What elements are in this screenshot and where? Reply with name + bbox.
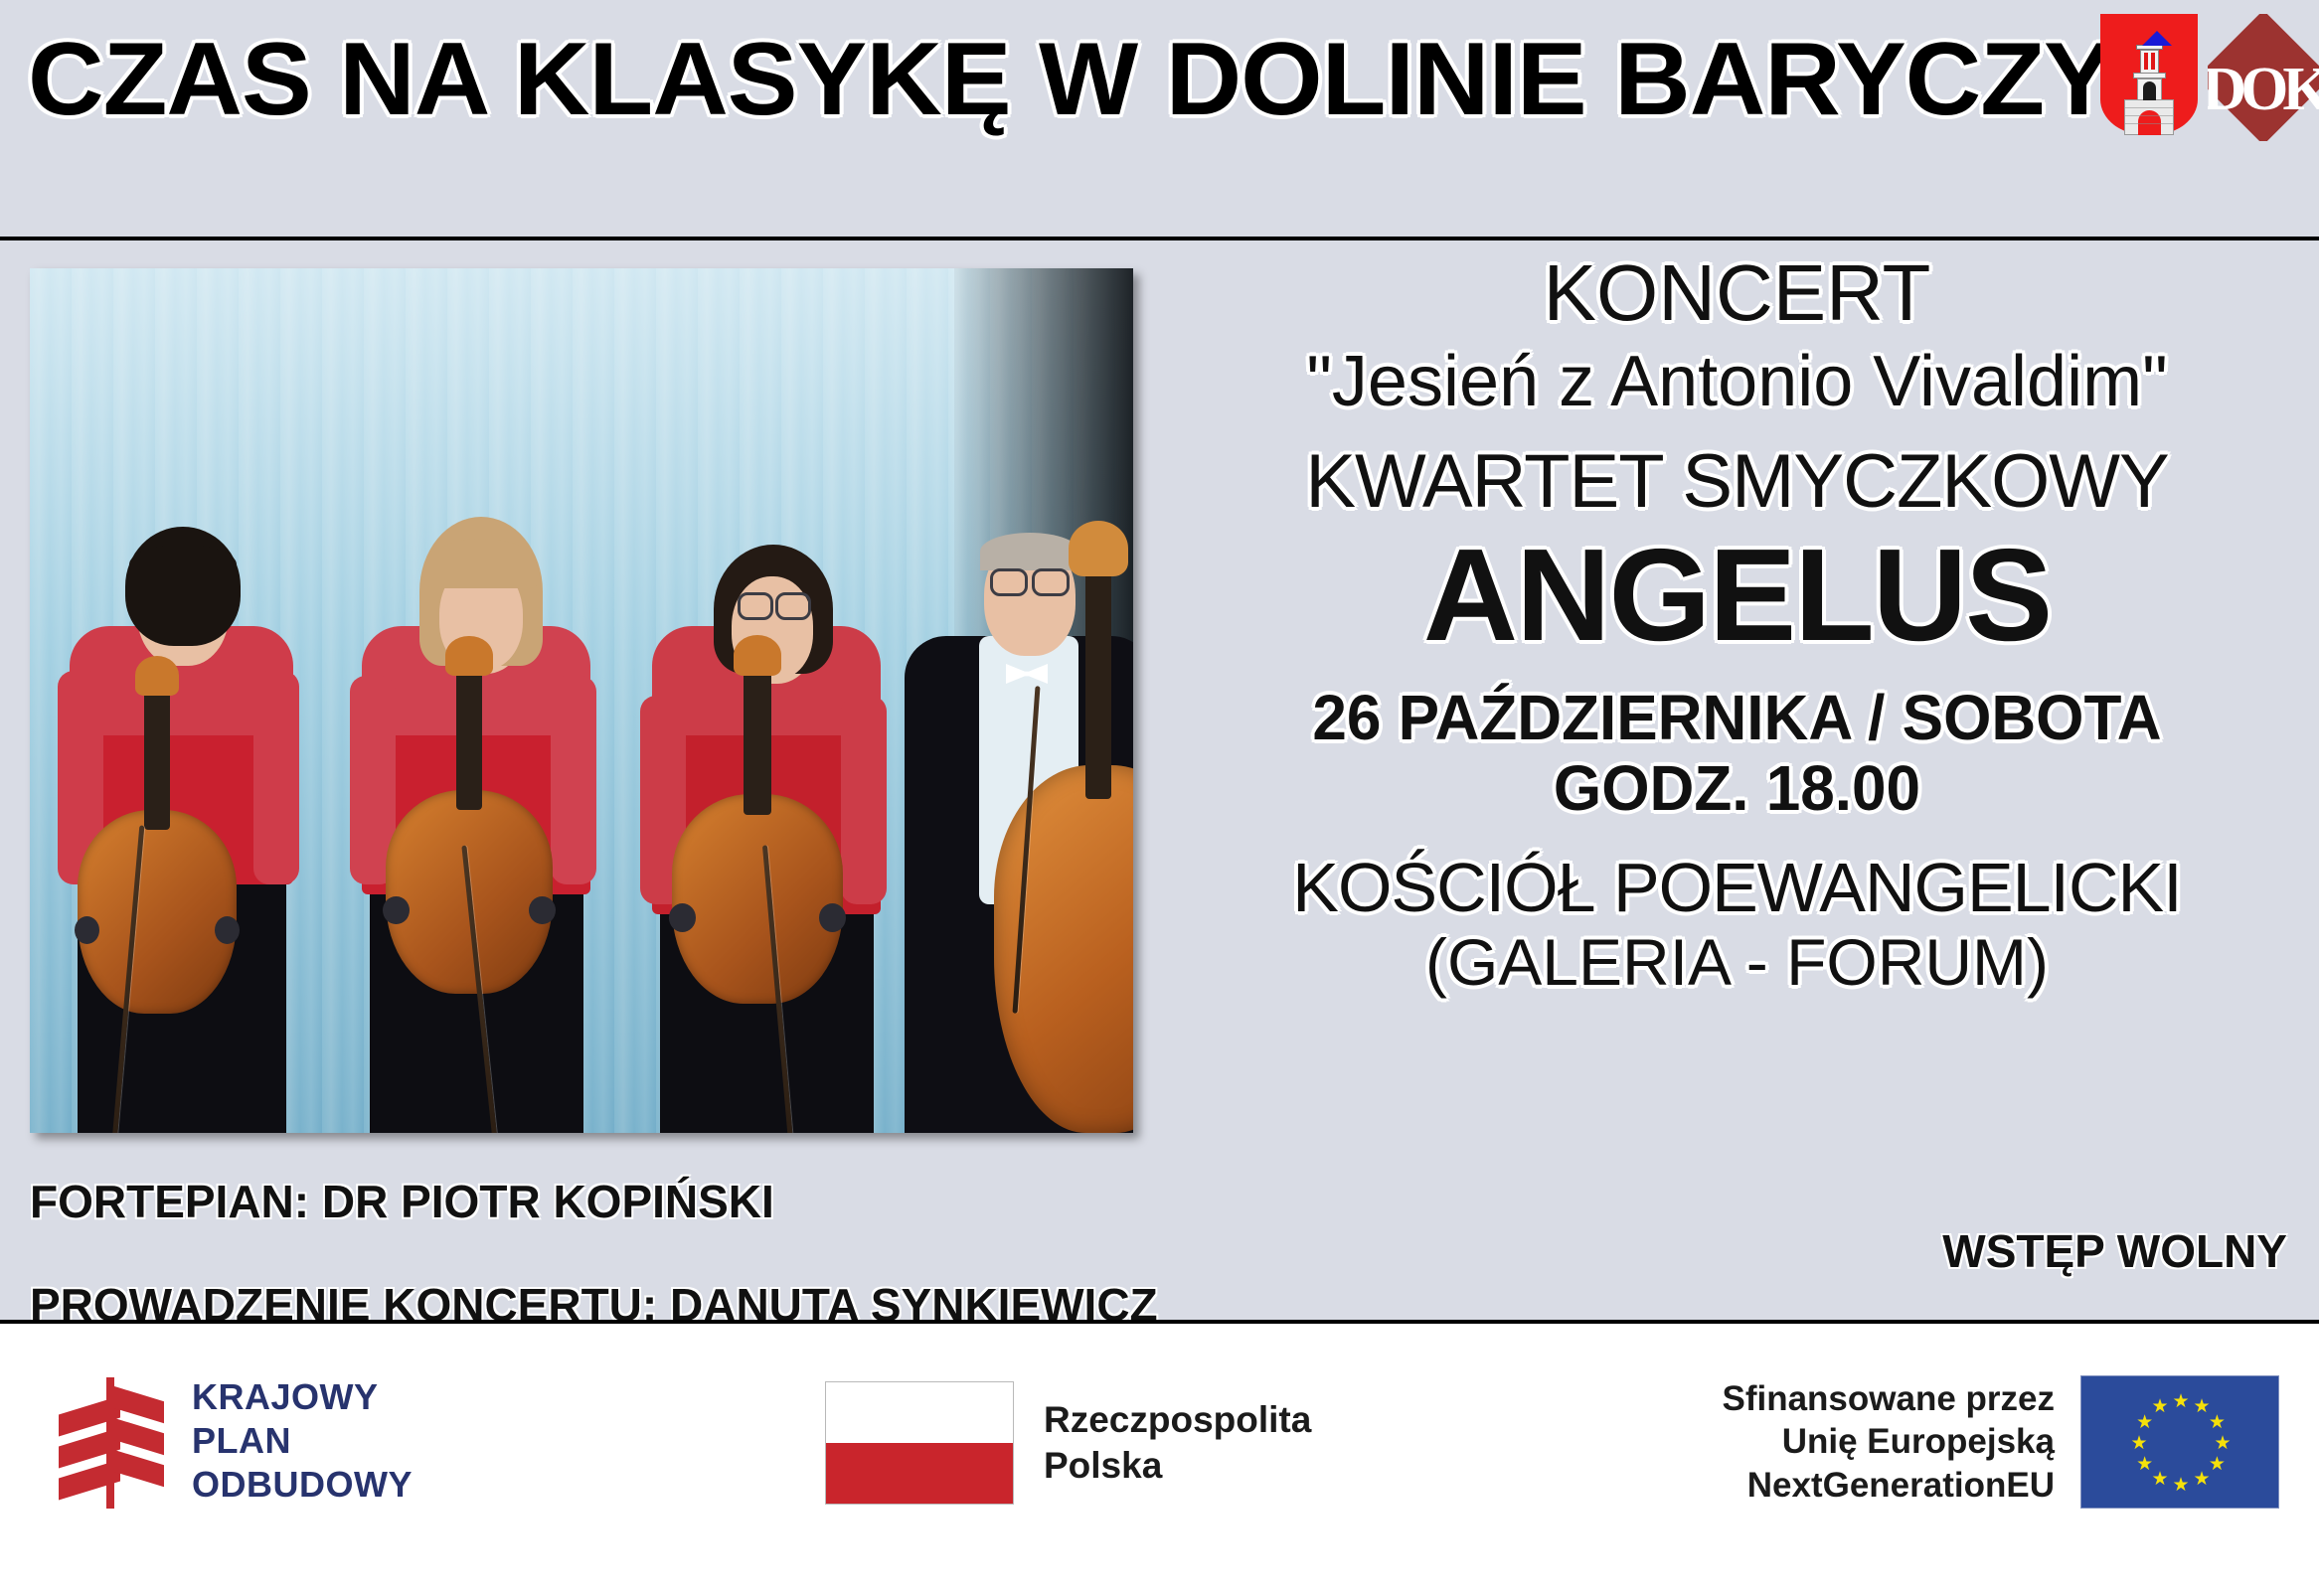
poster-title: CZAS NA KLASYKĘ W DOLINIE BARYCZY xyxy=(28,28,2113,131)
event-time: GODZ. 18.00 xyxy=(1190,753,2284,825)
eu-star-icon: ★ xyxy=(2215,1435,2232,1452)
concert-subtitle: "Jesień z Antonio Vivaldim" xyxy=(1173,342,2301,422)
kpo-line-2: PLAN xyxy=(192,1419,413,1463)
event-date: 26 PAŹDZIERNIKA / SOBOTA xyxy=(1190,683,2284,754)
eu-line-3: NextGenerationEU xyxy=(1722,1464,2055,1507)
kpo-logo-text: KRAJOWY PLAN ODBUDOWY xyxy=(192,1375,413,1507)
musician-3 xyxy=(616,437,914,1133)
musician-2 xyxy=(328,437,626,1133)
eu-star-icon: ★ xyxy=(2136,1414,2153,1431)
kpo-line-3: ODBUDOWY xyxy=(192,1463,413,1507)
eu-star-icon: ★ xyxy=(2152,1471,2169,1488)
eu-star-icon: ★ xyxy=(2194,1471,2211,1488)
kpo-mark-icon xyxy=(55,1371,164,1511)
milicz-coat-of-arms-icon xyxy=(2100,14,2198,141)
concert-poster: CZAS NA KLASYKĘ W DOLINIE BARYCZY xyxy=(0,0,2319,1596)
credit-piano: FORTEPIAN: DR PIOTR KOPIŃSKI xyxy=(30,1175,2289,1228)
dok-logo-letters: DOK xyxy=(2208,14,2319,141)
republic-logo-text: Rzeczpospolita Polska xyxy=(1044,1397,1311,1490)
eu-funding-logo: Sfinansowane przez Unię Europejską NextG… xyxy=(1722,1375,2279,1509)
eu-line-2: Unię Europejską xyxy=(1722,1420,2055,1463)
republic-of-poland-logo: Rzeczpospolita Polska xyxy=(825,1381,1311,1505)
concert-label: KONCERT xyxy=(1173,250,2301,336)
header-logos: DOK xyxy=(2100,14,2319,163)
poster-header: CZAS NA KLASYKĘ W DOLINIE BARYCZY xyxy=(0,0,2319,240)
musician-4-cellist xyxy=(885,378,1133,1133)
free-entry-note: WSTĘP WOLNY xyxy=(1942,1224,2287,1278)
kpo-line-1: KRAJOWY xyxy=(192,1375,413,1419)
venue-detail: (GALERIA - FORUM) xyxy=(1173,926,2301,1000)
glasses-icon xyxy=(738,592,773,620)
glasses-icon xyxy=(775,592,811,620)
polish-flag-icon xyxy=(825,1381,1014,1505)
musician-1 xyxy=(40,437,328,1133)
venue-name: KOŚCIÓŁ POEWANGELICKI xyxy=(1173,849,2301,926)
ensemble-type: KWARTET SMYCZKOWY xyxy=(1173,440,2301,524)
eu-flag-icon: ★★★★★★★★★★★★ xyxy=(2080,1375,2279,1509)
event-details: KONCERT "Jesień z Antonio Vivaldim" KWAR… xyxy=(1173,250,2301,1000)
eu-star-icon: ★ xyxy=(2209,1414,2226,1431)
eu-star-icon: ★ xyxy=(2209,1456,2226,1473)
quartet-photo xyxy=(30,268,1133,1133)
eu-logo-text: Sfinansowane przez Unię Europejską NextG… xyxy=(1722,1377,2055,1507)
eu-star-icon: ★ xyxy=(2152,1398,2169,1415)
kpo-logo: KRAJOWY PLAN ODBUDOWY xyxy=(55,1371,413,1511)
ensemble-name: ANGELUS xyxy=(1173,526,2301,665)
eu-line-1: Sfinansowane przez xyxy=(1722,1377,2055,1420)
eu-star-icon: ★ xyxy=(2136,1456,2153,1473)
eu-star-icon: ★ xyxy=(2173,1477,2190,1494)
eu-star-icon: ★ xyxy=(2173,1393,2190,1410)
dok-logo-icon: DOK xyxy=(2208,14,2319,141)
funding-footer: KRAJOWY PLAN ODBUDOWY Rzeczpospolita Pol… xyxy=(0,1320,2319,1596)
republic-line-2: Polska xyxy=(1044,1443,1311,1489)
republic-line-1: Rzeczpospolita xyxy=(1044,1397,1311,1443)
eu-star-icon: ★ xyxy=(2131,1435,2148,1452)
poster-body: KONCERT "Jesień z Antonio Vivaldim" KWAR… xyxy=(0,240,2319,1320)
